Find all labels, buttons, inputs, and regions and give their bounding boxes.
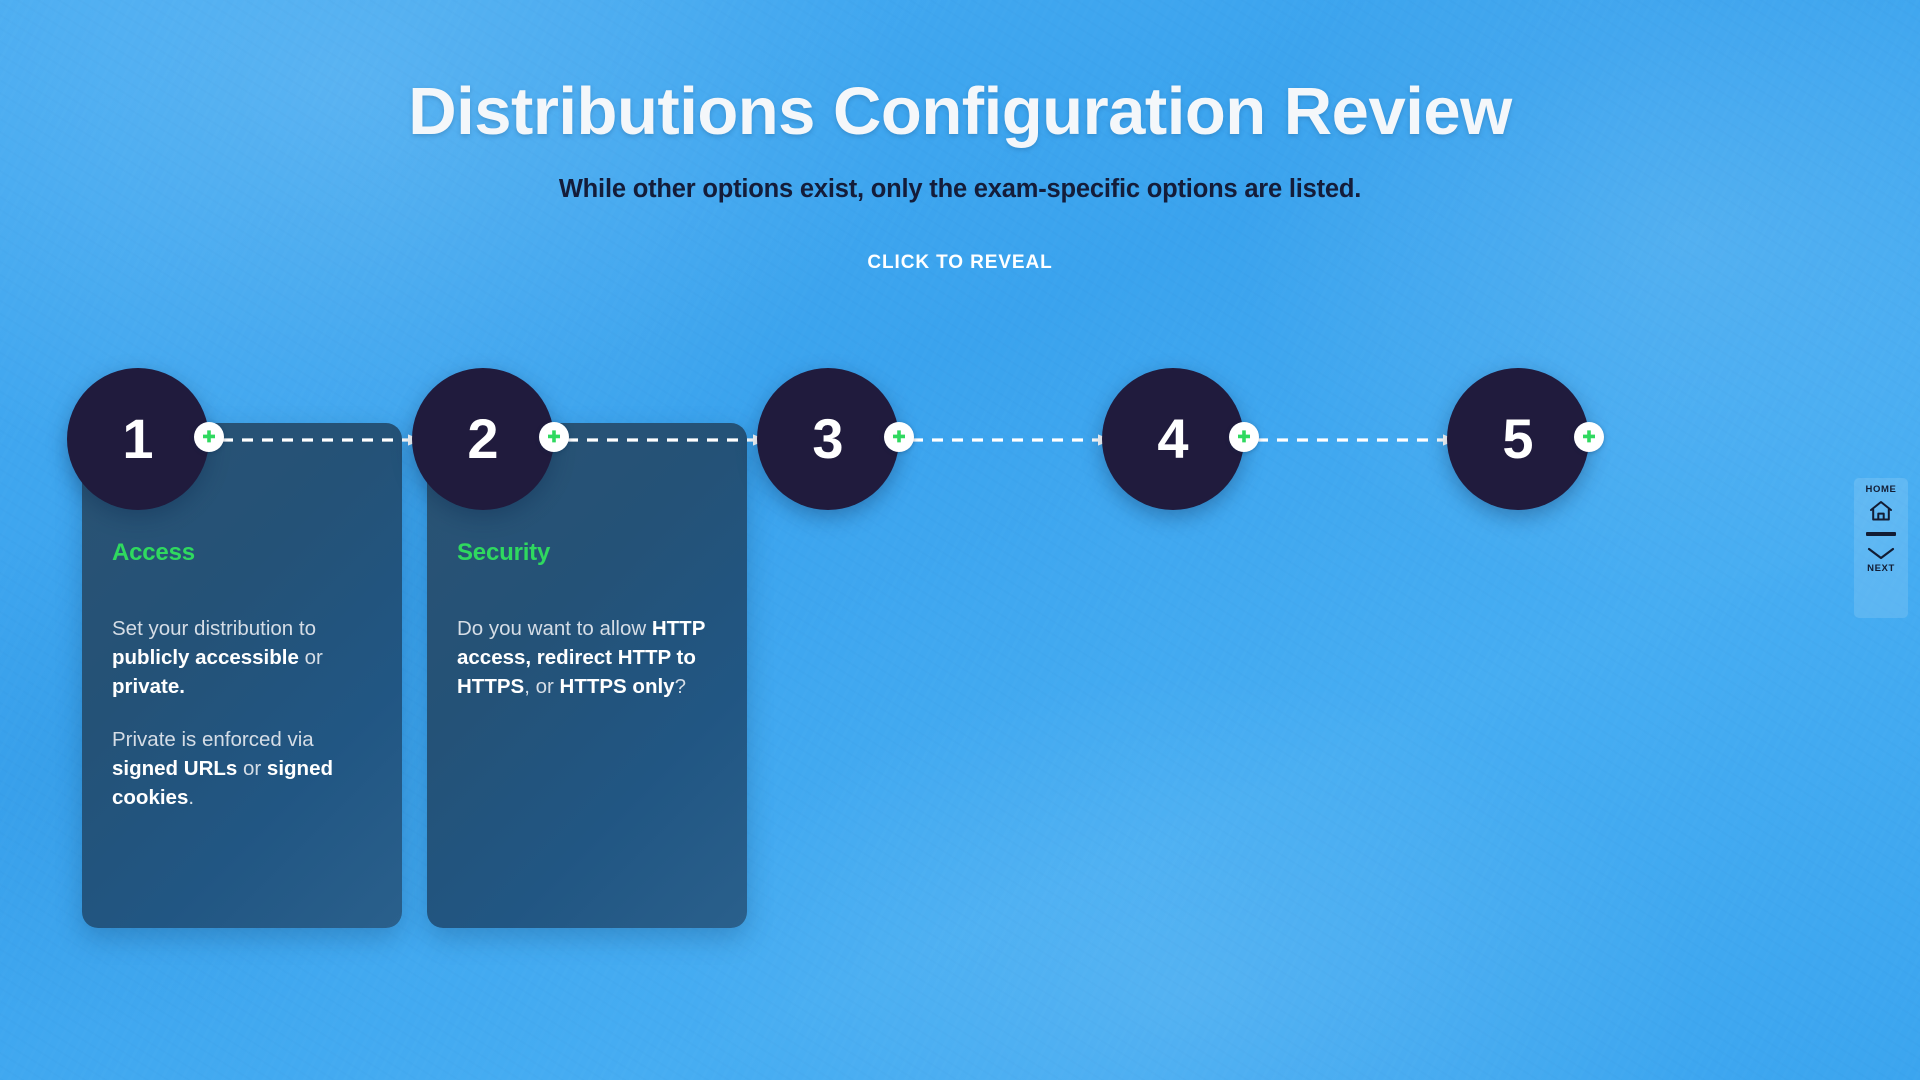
body-text: , or xyxy=(524,675,559,698)
nav-divider xyxy=(1866,532,1896,536)
body-text: Set your distribution to xyxy=(112,617,316,640)
step-number-circle[interactable]: 3 xyxy=(757,368,899,510)
card-paragraph: Set your distribution to publicly access… xyxy=(112,614,372,701)
page-subtitle: While other options exist, only the exam… xyxy=(0,175,1920,204)
click-to-reveal-hint: CLICK TO REVEAL xyxy=(0,252,1920,274)
home-label: HOME xyxy=(1866,485,1897,495)
plus-icon[interactable] xyxy=(1574,422,1604,452)
step-number-circle[interactable]: 2 xyxy=(412,368,554,510)
card-body: Set your distribution to publicly access… xyxy=(112,614,372,812)
navigation-widget[interactable]: HOME NEXT xyxy=(1854,478,1908,618)
step-number-circle[interactable]: 4 xyxy=(1102,368,1244,510)
body-text: ? xyxy=(675,675,686,698)
body-text: . xyxy=(188,786,194,809)
dashed-arrow-right-icon xyxy=(567,434,772,441)
plus-icon[interactable] xyxy=(1229,422,1259,452)
dashed-arrow-right-icon xyxy=(222,434,427,441)
dashed-arrow-right-icon xyxy=(912,434,1117,441)
timeline-step[interactable]: 3 xyxy=(772,368,1092,988)
step-number-circle[interactable]: 5 xyxy=(1447,368,1589,510)
emphasis-text: publicly accessible xyxy=(112,646,299,669)
chevron-down-icon[interactable] xyxy=(1866,546,1896,561)
home-icon[interactable] xyxy=(1868,499,1894,523)
page-title: Distributions Configuration Review xyxy=(0,78,1920,145)
plus-icon[interactable] xyxy=(539,422,569,452)
header: Distributions Configuration Review While… xyxy=(0,0,1920,274)
card-heading: Security xyxy=(457,539,717,567)
dashed-arrow-right-icon xyxy=(1257,434,1462,441)
emphasis-text: signed URLs xyxy=(112,757,237,780)
timeline-step[interactable]: AccessSet your distribution to publicly … xyxy=(82,368,402,988)
next-button[interactable]: NEXT xyxy=(1866,542,1896,574)
timeline-step[interactable]: SecurityDo you want to allow HTTP access… xyxy=(427,368,747,988)
card-heading: Access xyxy=(112,539,372,567)
card-paragraph: Do you want to allow HTTP access, redire… xyxy=(457,614,717,701)
next-label: NEXT xyxy=(1867,564,1895,574)
plus-icon[interactable] xyxy=(884,422,914,452)
body-text: or xyxy=(237,757,267,780)
timeline: AccessSet your distribution to publicly … xyxy=(82,368,1722,988)
emphasis-text: private. xyxy=(112,675,185,698)
plus-icon[interactable] xyxy=(194,422,224,452)
card-body: Do you want to allow HTTP access, redire… xyxy=(457,614,717,701)
body-text: Private is enforced via xyxy=(112,728,314,751)
timeline-step[interactable]: 4 xyxy=(1117,368,1437,988)
step-number-circle[interactable]: 1 xyxy=(67,368,209,510)
emphasis-text: HTTPS only xyxy=(560,675,675,698)
body-text: or xyxy=(299,646,323,669)
timeline-step[interactable]: 5 xyxy=(1462,368,1782,988)
card-paragraph: Private is enforced via signed URLs or s… xyxy=(112,725,372,812)
body-text: Do you want to allow xyxy=(457,617,652,640)
